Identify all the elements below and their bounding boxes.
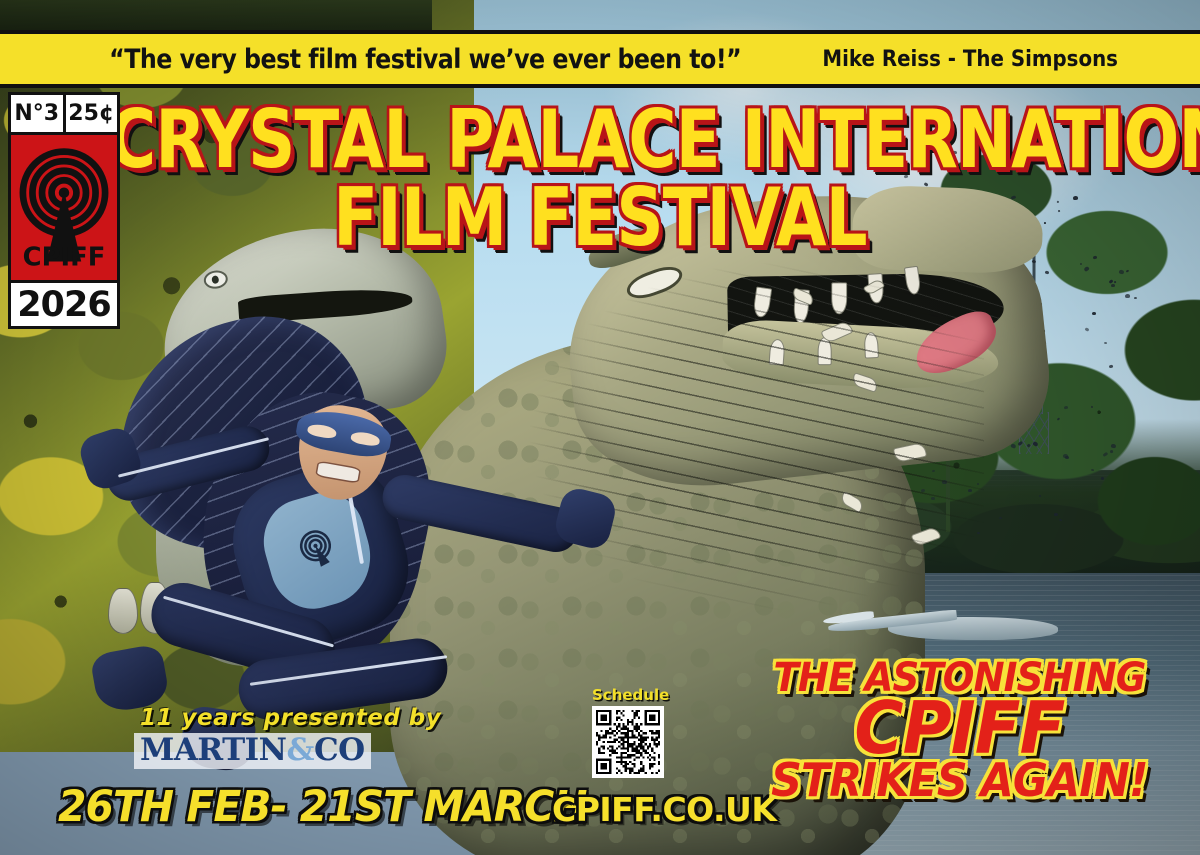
schedule-qr-block[interactable]: Schedule xyxy=(592,686,669,778)
website-url[interactable]: CPIFF.CO.UK xyxy=(552,790,776,829)
poster: “The very best film festival we’ve ever … xyxy=(0,0,1200,855)
schedule-label: Schedule xyxy=(592,686,669,704)
festival-dates: 26TH FEB- 21ST MARCH xyxy=(58,782,586,832)
quote-banner: “The very best film festival we’ve ever … xyxy=(0,30,1200,88)
quote-attribution: Mike Reiss - The Simpsons xyxy=(822,47,1118,72)
cpiff-chest-logo xyxy=(288,520,345,577)
top-foliage-strip xyxy=(0,0,432,34)
badge-header: N°3 25¢ xyxy=(11,95,117,135)
qr-code[interactable] xyxy=(592,706,664,778)
sponsor-ampersand: & xyxy=(287,732,315,768)
badge-year: 2026 xyxy=(11,280,117,326)
sponsor-name-part1: MARTIN xyxy=(140,732,287,768)
presented-by-text: 11 years presented by xyxy=(140,705,441,731)
sponsor-logo-martin-and-co: MARTIN&CO xyxy=(134,733,371,769)
svg-text:CPIFF: CPIFF xyxy=(23,242,106,272)
cpiff-tower-logo-icon: CPIFF xyxy=(11,135,117,280)
festival-quote: “The very best film festival we’ve ever … xyxy=(109,44,741,75)
badge-price: 25¢ xyxy=(66,95,118,132)
badge-issue-number: N°3 xyxy=(11,95,66,132)
issue-badge: N°3 25¢ CPIFF 2026 xyxy=(8,92,120,329)
sponsor-name-part2: CO xyxy=(314,732,365,768)
plesiosaur xyxy=(828,603,1058,653)
